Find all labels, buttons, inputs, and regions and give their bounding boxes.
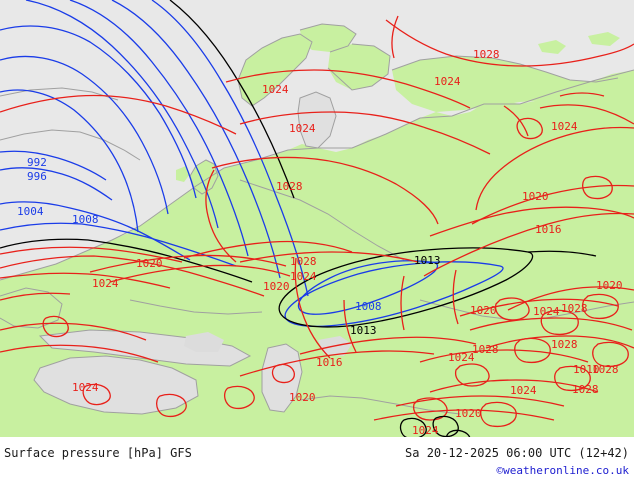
isobar-label-1024-4: 1024 <box>262 84 289 95</box>
isobar-label-1024-15: 1024 <box>290 271 317 282</box>
forecast-timestamp: Sa 20-12-2025 06:00 UTC (12+42) <box>405 446 629 460</box>
isobar-label-1020-13: 1020 <box>136 258 163 269</box>
isobar-label-1013-12: 1013 <box>414 255 441 266</box>
isobar-label-1024-25: 1024 <box>448 352 475 363</box>
isobar-label-1028-27: 1028 <box>551 339 578 350</box>
isobar-label-1028-14: 1028 <box>290 256 317 267</box>
isobar-label-1013-19: 1013 <box>350 325 377 336</box>
isobar-label-1020-34: 1020 <box>455 408 482 419</box>
map-footer: Surface pressure [hPa] GFS Sa 20-12-2025… <box>0 437 634 490</box>
pressure-contour-map[interactable]: 9929961004100810241024102810241024102810… <box>0 0 634 437</box>
isobar-label-1024-21: 1024 <box>533 306 560 317</box>
isobar-label-1024-30: 1024 <box>510 385 537 396</box>
isobar-label-1028-29: 1028 <box>592 364 619 375</box>
isobar-label-1024-8: 1024 <box>551 121 578 132</box>
isobar-label-1004-2: 1004 <box>17 206 44 217</box>
isobar-label-1020-10: 1020 <box>522 191 549 202</box>
isobar-label-1024-5: 1024 <box>289 123 316 134</box>
weather-map-page: 9929961004100810241024102810241024102810… <box>0 0 634 490</box>
isobar-label-1020-17: 1020 <box>263 281 290 292</box>
copyright-credit: ©weatheronline.co.uk <box>497 464 629 477</box>
isobar-label-1024-7: 1024 <box>434 76 461 87</box>
isobar-label-1024-32: 1024 <box>72 382 99 393</box>
isobar-label-1016-11: 1016 <box>535 224 562 235</box>
isobar-label-996-1: 996 <box>27 171 47 182</box>
isobar-label-992-0: 992 <box>27 157 47 168</box>
isobar-label-1020-20: 1020 <box>470 305 497 316</box>
isobar-label-1008-18: 1008 <box>355 301 382 312</box>
isobar-label-1028-9: 1028 <box>276 181 303 192</box>
isobar-label-1024-16: 1024 <box>92 278 119 289</box>
isobar-label-1028-6: 1028 <box>473 49 500 60</box>
map-title: Surface pressure [hPa] GFS <box>4 446 192 460</box>
isobar-label-1008-3: 1008 <box>72 214 99 225</box>
isobar-label-1028-22: 1028 <box>561 303 588 314</box>
isobar-label-1028-31: 1028 <box>572 384 599 395</box>
isobar-label-1016-24: 1016 <box>316 357 343 368</box>
isobar-label-1020-33: 1020 <box>289 392 316 403</box>
isobar-label-1028-26: 1028 <box>472 344 499 355</box>
isobar-label-1024-35: 1024 <box>412 425 439 436</box>
isobar-label-1020-23: 1020 <box>596 280 623 291</box>
